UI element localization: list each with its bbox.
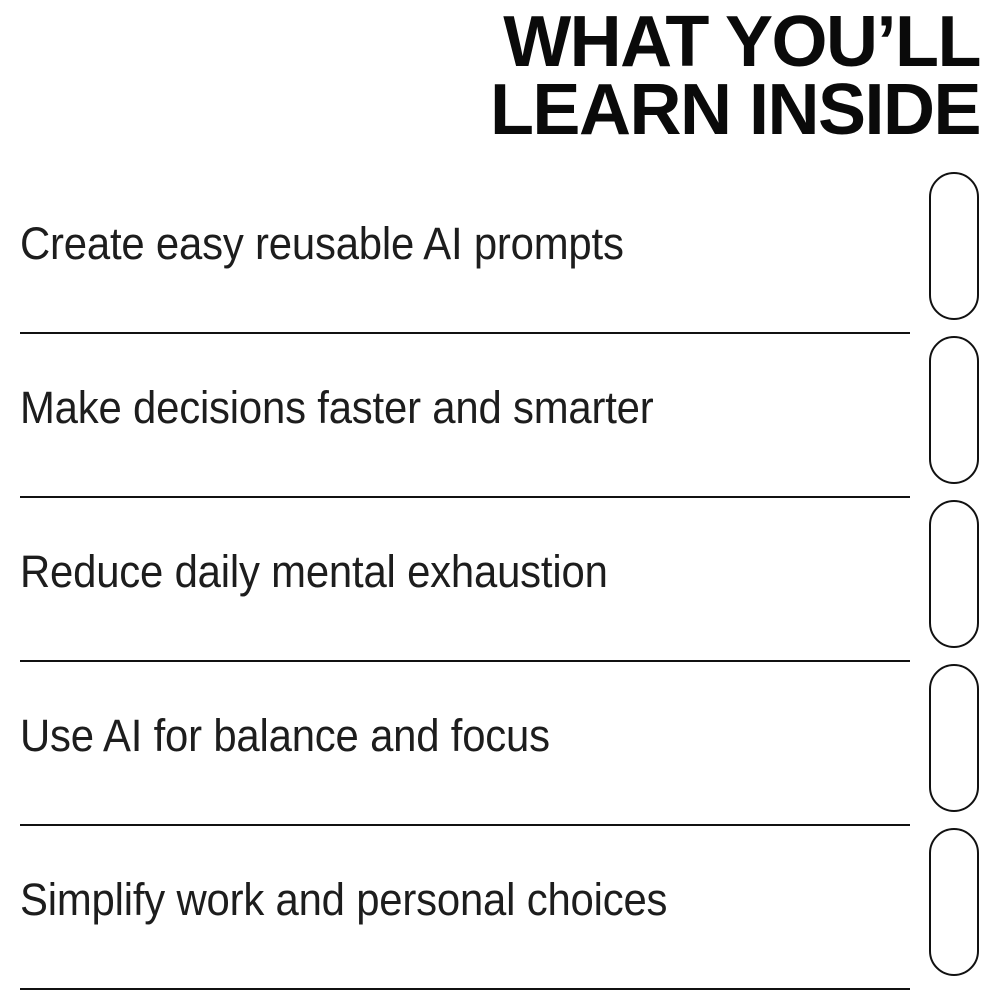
list-item-label-2: Make decisions faster and smarter <box>20 334 654 482</box>
page-title-line-1: WHAT YOU’LL <box>0 8 980 76</box>
list-item-divider-5 <box>20 988 910 990</box>
benefit-list: Create easy reusable AI prompts Make dec… <box>20 170 910 990</box>
page-title-line-2: LEARN INSIDE <box>0 76 980 144</box>
list-item: Create easy reusable AI prompts <box>20 170 910 334</box>
slide-canvas: WHAT YOU’LL LEARN INSIDE Create easy reu… <box>0 0 1000 1000</box>
list-item-label-1: Create easy reusable AI prompts <box>20 170 624 318</box>
list-item-label-5: Simplify work and personal choices <box>20 826 667 974</box>
list-item-label-4: Use AI for balance and focus <box>20 662 550 810</box>
capsule-icon-3 <box>929 500 979 648</box>
list-item: Use AI for balance and focus <box>20 662 910 826</box>
capsule-icon-2 <box>929 336 979 484</box>
list-item-label-3: Reduce daily mental exhaustion <box>20 498 608 646</box>
page-title: WHAT YOU’LL LEARN INSIDE <box>0 8 980 144</box>
capsule-icon-1 <box>929 172 979 320</box>
capsule-icon-4 <box>929 664 979 812</box>
capsule-icon-5 <box>929 828 979 976</box>
capsule-marker-column <box>929 172 981 976</box>
list-item: Reduce daily mental exhaustion <box>20 498 910 662</box>
list-item: Simplify work and personal choices <box>20 826 910 990</box>
list-item: Make decisions faster and smarter <box>20 334 910 498</box>
